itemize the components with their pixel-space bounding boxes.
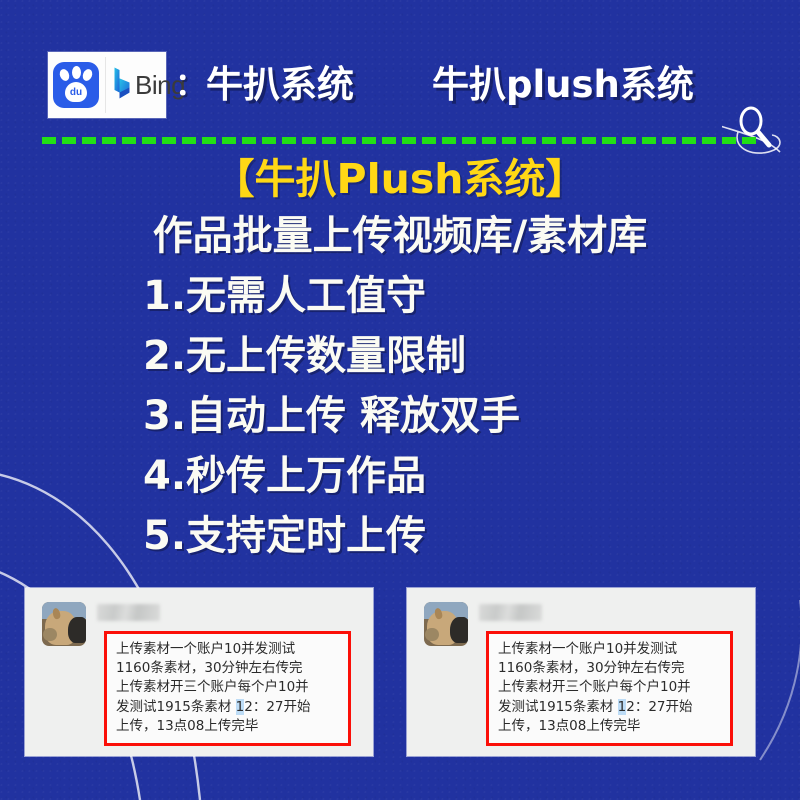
chat-message-line: 上传素材一个账户10并发测试 bbox=[498, 640, 723, 659]
chat-message-line: 发测试1915条素材 12：27开始 bbox=[116, 698, 341, 717]
chat-message-line: 发测试1915条素材 12：27开始 bbox=[498, 698, 723, 717]
chat-message-line: 上传，13点08上传完毕 bbox=[116, 717, 341, 736]
sender-name bbox=[97, 604, 160, 621]
header: du Bing ： 牛扒系统 牛扒plush系统 bbox=[0, 44, 800, 126]
page-title: 【牛扒Plush系统】 bbox=[0, 155, 800, 203]
chat-message-bubble: 上传素材一个账户10并发测试1160条素材，30分钟左右传完上传素材开三个账户每… bbox=[486, 631, 733, 746]
poster-canvas: du Bing ： 牛扒系统 牛扒plush系统 bbox=[0, 0, 800, 800]
feature-item-3: 3.自动上传 释放双手 bbox=[0, 386, 800, 446]
header-title-left: 牛扒系统 bbox=[206, 56, 354, 114]
feature-list: 作品批量上传视频库/素材库 1.无需人工值守 2.无上传数量限制 3.自动上传 … bbox=[0, 206, 800, 566]
header-separator: ： bbox=[175, 60, 206, 110]
feature-item-5: 5.支持定时上传 bbox=[0, 506, 800, 566]
avatar bbox=[42, 602, 86, 646]
chat-message-line: 1160条素材，30分钟左右传完 bbox=[498, 659, 723, 678]
bing-b-logo-icon bbox=[112, 65, 132, 105]
proof-card: 上传素材一个账户10并发测试1160条素材，30分钟左右传完上传素材开三个账户每… bbox=[25, 588, 373, 756]
chat-message-bubble: 上传素材一个账户10并发测试1160条素材，30分钟左右传完上传素材开三个账户每… bbox=[104, 631, 351, 746]
baidu-paw-logo-icon: du bbox=[53, 62, 99, 108]
header-title-right: 牛扒plush系统 bbox=[432, 56, 694, 114]
chat-message-line: 上传，13点08上传完毕 bbox=[498, 717, 723, 736]
logo-divider bbox=[105, 57, 106, 113]
chat-message-line: 上传素材开三个账户每个户10并 bbox=[116, 678, 341, 697]
chat-message-line: 1160条素材，30分钟左右传完 bbox=[116, 659, 341, 678]
avatar bbox=[424, 602, 468, 646]
feature-item-4: 4.秒传上万作品 bbox=[0, 446, 800, 506]
search-engine-logo-box: du Bing bbox=[48, 52, 166, 118]
chat-message-line: 上传素材开三个账户每个户10并 bbox=[498, 678, 723, 697]
feature-item-2: 2.无上传数量限制 bbox=[0, 326, 800, 386]
dashed-divider bbox=[42, 137, 758, 144]
baidu-wordmark: du bbox=[65, 82, 87, 102]
chat-message-line: 上传素材一个账户10并发测试 bbox=[116, 640, 341, 659]
sender-name bbox=[479, 604, 542, 621]
feature-item-1: 1.无需人工值守 bbox=[0, 266, 800, 326]
subtitle: 作品批量上传视频库/素材库 bbox=[0, 206, 800, 266]
proof-card: 上传素材一个账户10并发测试1160条素材，30分钟左右传完上传素材开三个账户每… bbox=[407, 588, 755, 756]
magnifier-icon bbox=[722, 102, 784, 162]
